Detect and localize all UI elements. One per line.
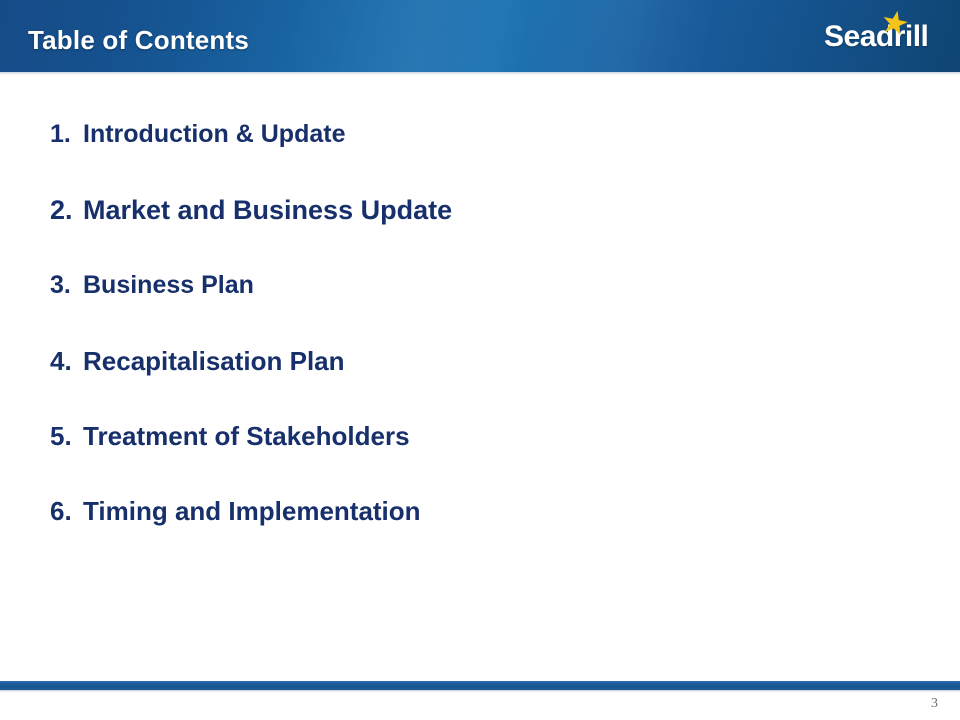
- toc-item-4[interactable]: 4. Recapitalisation Plan: [50, 346, 345, 377]
- toc-item-5[interactable]: 5. Treatment of Stakeholders: [50, 421, 410, 452]
- toc-item-label: Treatment of Stakeholders: [83, 421, 410, 452]
- toc-item-number: 3.: [50, 271, 83, 300]
- toc-item-1[interactable]: 1. Introduction & Update: [50, 120, 345, 149]
- toc-item-number: 6.: [50, 496, 83, 527]
- toc-item-number: 4.: [50, 346, 83, 377]
- toc-item-number: 5.: [50, 421, 83, 452]
- seadrill-logo: Seadrill: [820, 14, 940, 58]
- toc-item-label: Business Plan: [83, 271, 254, 300]
- toc-item-label: Introduction & Update: [83, 120, 345, 149]
- table-of-contents-list: 1. Introduction & Update 2. Market and B…: [0, 72, 960, 672]
- logo-wordmark: Seadrill: [824, 20, 928, 54]
- toc-item-label: Timing and Implementation: [83, 496, 421, 527]
- footer-bar: [0, 681, 960, 690]
- toc-item-2[interactable]: 2. Market and Business Update: [50, 195, 452, 226]
- toc-item-3[interactable]: 3. Business Plan: [50, 271, 254, 300]
- toc-item-number: 1.: [50, 120, 83, 149]
- footer-bar-edge: [0, 690, 960, 692]
- star-icon: [882, 10, 908, 36]
- toc-item-label: Recapitalisation Plan: [83, 346, 345, 377]
- page-number: 3: [931, 696, 938, 712]
- toc-item-label: Market and Business Update: [83, 195, 452, 226]
- toc-item-6[interactable]: 6. Timing and Implementation: [50, 496, 421, 527]
- toc-item-number: 2.: [50, 195, 83, 226]
- page-title: Table of Contents: [28, 25, 249, 56]
